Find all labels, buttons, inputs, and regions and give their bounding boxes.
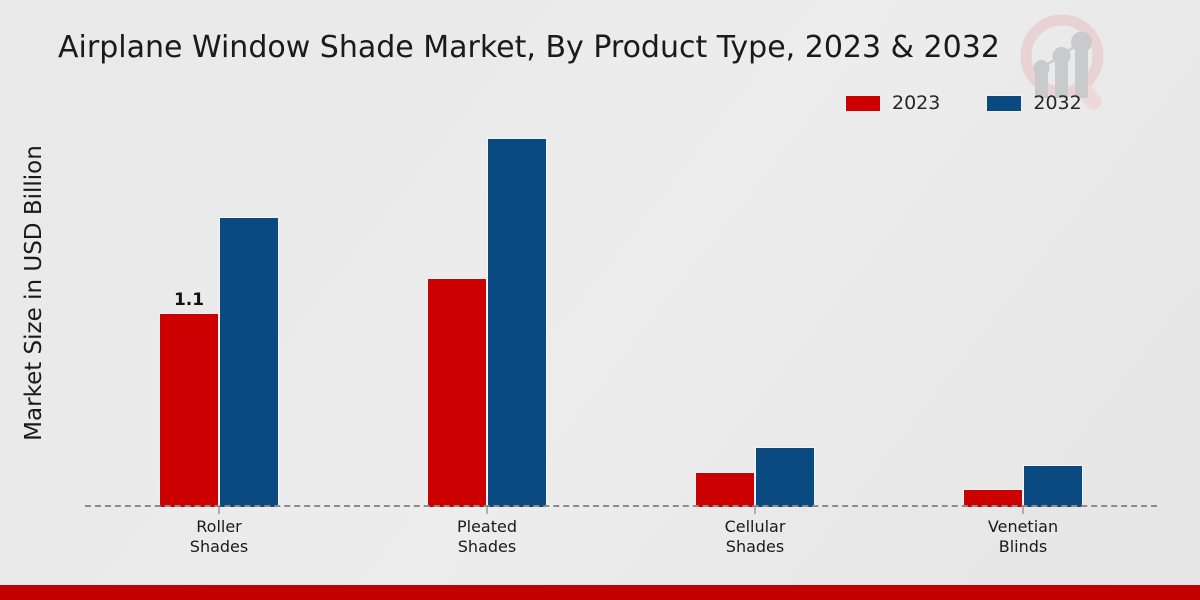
bar-pair bbox=[963, 465, 1083, 507]
category-label-line: Roller bbox=[190, 517, 248, 537]
legend-swatch-red-icon bbox=[845, 95, 881, 112]
chart-title: Airplane Window Shade Market, By Product… bbox=[58, 30, 1000, 65]
y-axis-title: Market Size in USD Billion bbox=[21, 93, 47, 493]
bar-group: CellularShades bbox=[621, 120, 889, 507]
category-label-line: Cellular bbox=[725, 517, 786, 537]
x-axis-category-label: PleatedShades bbox=[457, 517, 517, 557]
category-label-line: Venetian bbox=[988, 517, 1058, 537]
bar-group: VenetianBlinds bbox=[889, 120, 1157, 507]
bar-group: PleatedShades bbox=[353, 120, 621, 507]
category-label-line: Shades bbox=[457, 537, 517, 557]
bar-group: 1.1RollerShades bbox=[85, 120, 353, 507]
bar-2032[interactable] bbox=[1023, 465, 1083, 507]
category-label-line: Blinds bbox=[988, 537, 1058, 557]
bar-2032[interactable] bbox=[487, 138, 547, 507]
bar-2023[interactable] bbox=[695, 472, 755, 507]
legend-label-2023: 2023 bbox=[892, 92, 940, 114]
x-axis-category-label: CellularShades bbox=[725, 517, 786, 557]
bar-2032[interactable] bbox=[755, 447, 815, 507]
x-axis-category-label: RollerShades bbox=[190, 517, 248, 557]
chart-legend: 2023 2032 bbox=[845, 92, 1082, 114]
bar-2023[interactable] bbox=[427, 278, 487, 507]
bar-pair: 1.1 bbox=[159, 217, 279, 507]
category-label-line: Pleated bbox=[457, 517, 517, 537]
x-axis-tick bbox=[487, 507, 488, 514]
x-axis-tick bbox=[1023, 507, 1024, 514]
bar-groups: 1.1RollerShadesPleatedShadesCellularShad… bbox=[85, 120, 1157, 507]
bar-2023[interactable]: 1.1 bbox=[159, 313, 219, 507]
bar-2032[interactable] bbox=[219, 217, 279, 507]
legend-label-2032: 2032 bbox=[1033, 92, 1081, 114]
bar-value-label: 1.1 bbox=[174, 290, 204, 310]
bar-pair bbox=[695, 447, 815, 507]
category-label-line: Shades bbox=[190, 537, 248, 557]
x-axis-tick bbox=[219, 507, 220, 514]
bottom-accent-band bbox=[0, 585, 1200, 600]
x-axis-category-label: VenetianBlinds bbox=[988, 517, 1058, 557]
legend-swatch-blue-icon bbox=[986, 95, 1022, 112]
legend-item-2032[interactable]: 2032 bbox=[986, 92, 1081, 114]
x-axis-baseline bbox=[85, 505, 1157, 507]
chart-page: Airplane Window Shade Market, By Product… bbox=[0, 0, 1200, 600]
plot-area: 1.1RollerShadesPleatedShadesCellularShad… bbox=[85, 120, 1157, 507]
category-label-line: Shades bbox=[725, 537, 786, 557]
x-axis-tick bbox=[755, 507, 756, 514]
legend-item-2023[interactable]: 2023 bbox=[845, 92, 940, 114]
bar-pair bbox=[427, 138, 547, 507]
